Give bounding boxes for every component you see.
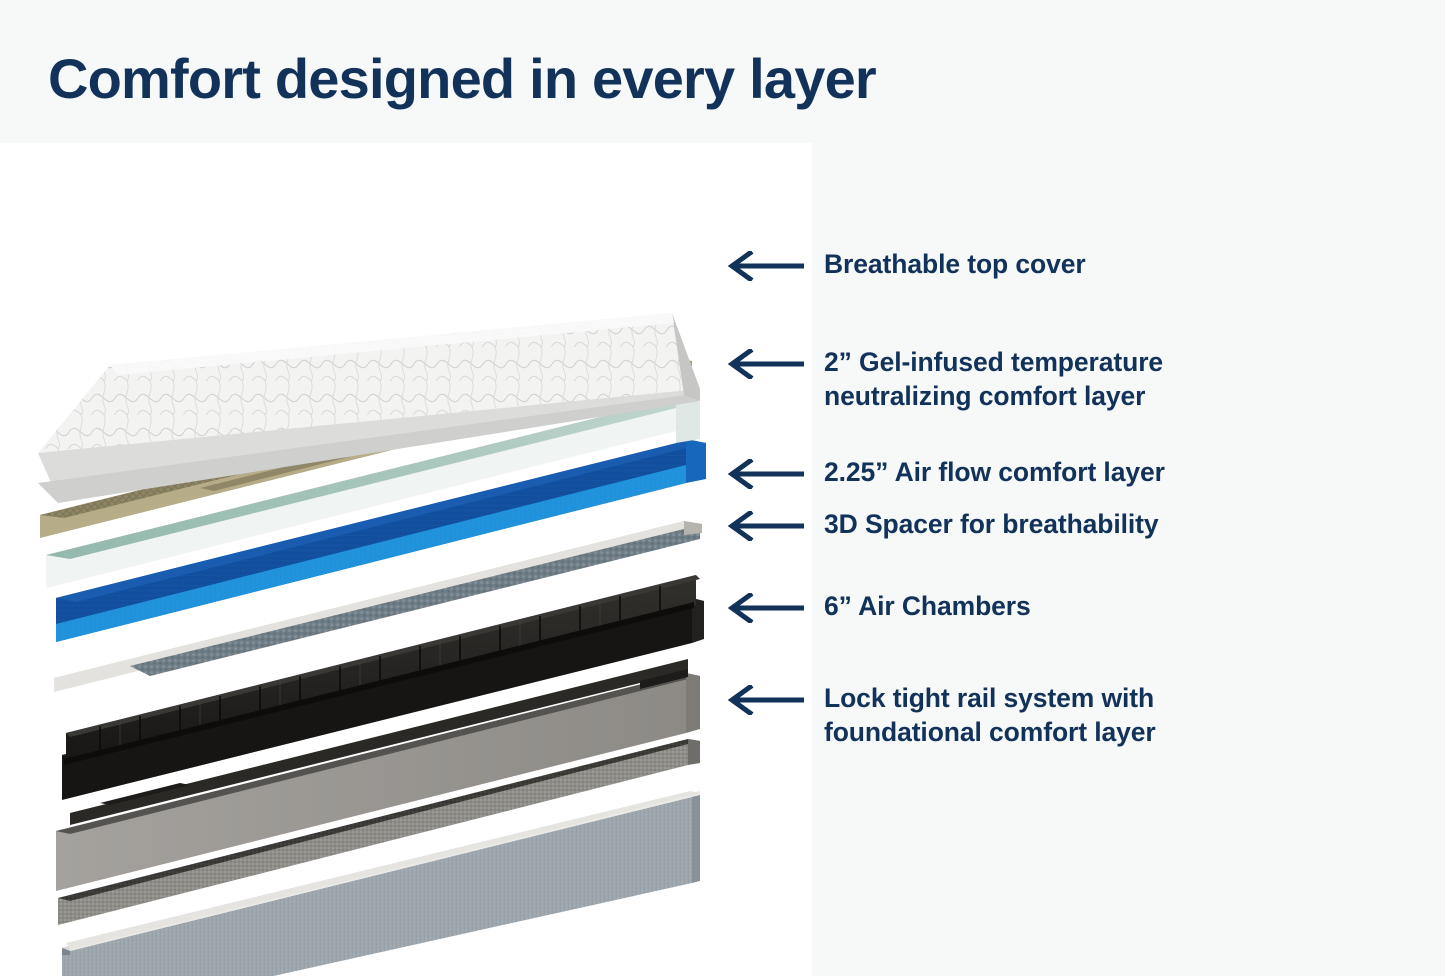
callout-label: 2.25” Air flow comfort layer xyxy=(824,455,1165,489)
arrow-left-icon xyxy=(726,593,804,623)
callout-label: Breathable top cover xyxy=(824,247,1086,281)
callout-gel-comfort-layer[interactable]: 2” Gel-infused temperature neutralizing … xyxy=(726,345,1163,414)
arrow-left-icon xyxy=(726,349,804,379)
arrow-left-icon xyxy=(726,251,804,281)
callout-rail-system[interactable]: Lock tight rail system with foundational… xyxy=(726,681,1156,750)
callout-label: 6” Air Chambers xyxy=(824,589,1031,623)
arrow-left-icon xyxy=(726,685,804,715)
callout-label: Lock tight rail system with foundational… xyxy=(824,681,1156,750)
arrow-left-icon xyxy=(726,459,804,489)
callout-breathable-top-cover[interactable]: Breathable top cover xyxy=(726,247,1086,281)
arrow-left-icon xyxy=(726,511,804,541)
callout-air-flow-comfort-layer[interactable]: 2.25” Air flow comfort layer xyxy=(726,455,1165,489)
mattress-image-plate xyxy=(0,143,812,976)
callout-label: 2” Gel-infused temperature neutralizing … xyxy=(824,345,1163,414)
page-root: Comfort designed in every layer xyxy=(0,0,1445,976)
callout-label: 3D Spacer for breathability xyxy=(824,507,1159,541)
page-title: Comfort designed in every layer xyxy=(48,50,876,109)
callout-air-chambers[interactable]: 6” Air Chambers xyxy=(726,589,1031,623)
callout-3d-spacer[interactable]: 3D Spacer for breathability xyxy=(726,507,1159,541)
callout-list: Breathable top cover 2” Gel-infused temp… xyxy=(726,143,1426,976)
exploded-mattress-diagram xyxy=(0,143,812,976)
